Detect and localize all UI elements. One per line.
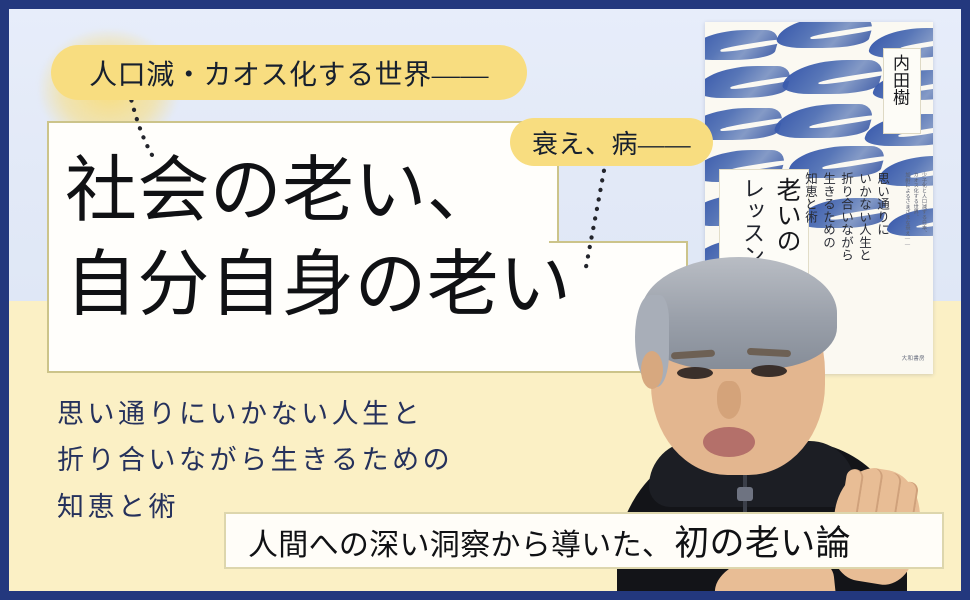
- outer-frame: 内田樹 老いの レッスン 思い通りに いかない人生と 折り合いながら 生きるため…: [0, 0, 970, 600]
- leader-line-1: [129, 91, 152, 155]
- subtitle-block: 思い通りにいかない人生と 折り合いながら生きるための 知恵と術: [57, 391, 453, 530]
- subtitle-line-2: 折り合いながら生きるための: [57, 437, 453, 483]
- subtitle-line-1: 思い通りにいかない人生と: [57, 391, 453, 437]
- pill-decline: 衰え、病——: [510, 118, 713, 166]
- caption-inner: 人間への深い洞察から導いた、 初の老い論: [226, 515, 851, 566]
- caption-box: 人間への深い洞察から導いた、 初の老い論: [224, 512, 944, 569]
- slide-canvas: 内田樹 老いの レッスン 思い通りに いかない人生と 折り合いながら 生きるため…: [9, 9, 961, 591]
- pill-population: 人口減・カオス化する世界——: [51, 45, 527, 100]
- caption-part-2: 初の老い論: [674, 515, 851, 566]
- caption-part-1: 人間への深い洞察から導いた、: [248, 520, 672, 564]
